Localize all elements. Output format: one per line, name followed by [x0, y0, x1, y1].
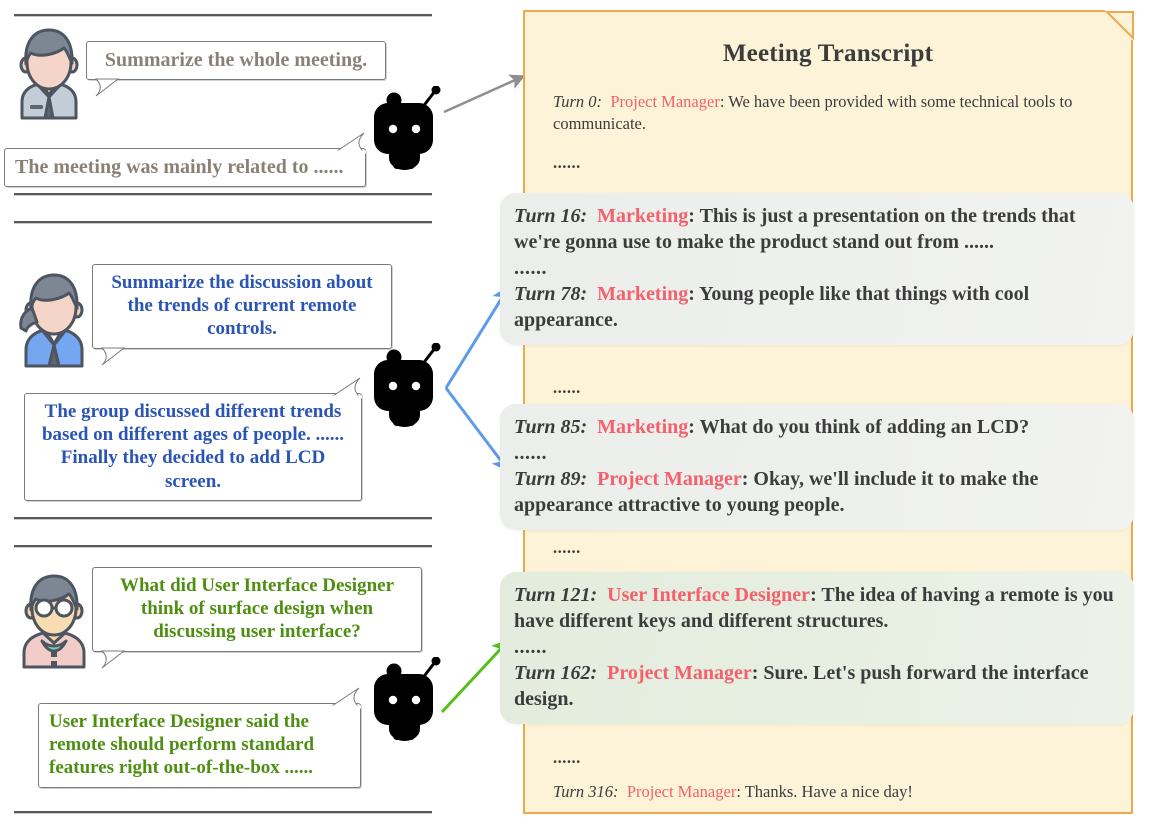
answer-text: The group discussed different trends bas…	[42, 401, 344, 492]
speaker-label: Project Manager	[627, 782, 737, 801]
highlight-line: Turn 16: Marketing: This is just a prese…	[514, 203, 1120, 255]
bubble-tail	[98, 651, 124, 669]
highlight-block-interface: Turn 121: User Interface Designer: The i…	[500, 572, 1134, 724]
robot-icon	[367, 86, 443, 170]
ellipsis-marker: ......	[553, 378, 581, 398]
question-bubble-2: Summarize the discussion about the trend…	[92, 264, 392, 349]
turn-label: Turn 316:	[553, 782, 619, 801]
turn-label: Turn 89:	[514, 468, 587, 490]
highlight-block-trends-b: Turn 85: Marketing: What do you think of…	[500, 404, 1134, 530]
utterance-text: : Sure. Let's push forward the interface…	[514, 662, 1089, 710]
question-bubble-3: What did User Interface Designer think o…	[92, 567, 422, 652]
robot-icon	[367, 343, 443, 427]
highlight-block-trends-a: Turn 16: Marketing: This is just a prese…	[500, 193, 1134, 345]
bubble-tail	[328, 686, 354, 704]
bubble-tail	[98, 348, 124, 366]
speaker-label: Project Manager	[610, 92, 720, 111]
speaker-label: Marketing	[597, 283, 688, 305]
speaker-label: User Interface Designer	[607, 584, 810, 606]
turn-label: Turn 121:	[514, 584, 597, 606]
turn-label: Turn 16:	[514, 205, 587, 227]
question-text: Summarize the discussion about the trend…	[111, 272, 372, 339]
turn-label: Turn 85:	[514, 416, 587, 438]
transcript-entry-turn-0: Turn 0: Project Manager: We have been pr…	[553, 91, 1103, 136]
divider-rule	[14, 221, 432, 223]
utterance-text: : What do you think of adding an LCD?	[688, 416, 1029, 438]
ellipsis-marker: ......	[553, 748, 581, 768]
answer-bubble-3: User Interface Designer said the remote …	[38, 703, 361, 788]
ellipsis-marker: ......	[514, 255, 1120, 281]
divider-rule	[14, 811, 432, 813]
glasses-person-avatar	[12, 563, 90, 669]
ellipsis-marker: ......	[514, 440, 1120, 466]
question-text: What did User Interface Designer think o…	[120, 575, 394, 642]
answer-text: The meeting was mainly related to ......	[15, 156, 344, 178]
highlight-line: Turn 162: Project Manager: Sure. Let's p…	[514, 660, 1120, 712]
question-bubble-1: Summarize the whole meeting.	[86, 41, 386, 80]
ellipsis-marker: ......	[553, 538, 581, 558]
divider-rule	[14, 14, 432, 16]
page-fold-corner	[1105, 10, 1133, 38]
bubble-tail	[92, 79, 118, 97]
answer-bubble-2: The group discussed different trends bas…	[24, 393, 362, 501]
robot-icon	[367, 657, 443, 741]
answer-bubble-1: The meeting was mainly related to ......	[4, 148, 366, 187]
turn-label: Turn 162:	[514, 662, 597, 684]
speaker-label: Project Manager	[597, 468, 742, 490]
utterance-text: : Thanks. Have a nice day!	[736, 782, 913, 801]
female-professional-avatar	[12, 258, 90, 368]
highlight-line: Turn 78: Marketing: Young people like th…	[514, 281, 1120, 333]
divider-rule	[14, 193, 432, 195]
speaker-label: Project Manager	[607, 662, 752, 684]
diagram-canvas: Summarize the whole meeting. The meeting…	[0, 0, 1161, 827]
bubble-tail	[329, 376, 355, 394]
bubble-tail	[333, 131, 359, 149]
speaker-label: Marketing	[597, 416, 688, 438]
turn-label: Turn 0:	[553, 92, 602, 111]
turn-label: Turn 78:	[514, 283, 587, 305]
male-officer-avatar	[12, 26, 86, 120]
highlight-line: Turn 121: User Interface Designer: The i…	[514, 582, 1120, 634]
ellipsis-marker: ......	[514, 634, 1120, 660]
highlight-line: Turn 85: Marketing: What do you think of…	[514, 414, 1120, 440]
speaker-label: Marketing	[597, 205, 688, 227]
answer-text: User Interface Designer said the remote …	[49, 711, 314, 778]
divider-rule	[14, 545, 432, 547]
question-text: Summarize the whole meeting.	[105, 49, 367, 71]
highlight-line: Turn 89: Project Manager: Okay, we'll in…	[514, 466, 1120, 518]
ellipsis-marker: ......	[553, 153, 581, 173]
transcript-entry-turn-316: Turn 316: Project Manager: Thanks. Have …	[553, 781, 1103, 803]
divider-rule	[14, 517, 432, 519]
transcript-title: Meeting Transcript	[525, 40, 1131, 68]
